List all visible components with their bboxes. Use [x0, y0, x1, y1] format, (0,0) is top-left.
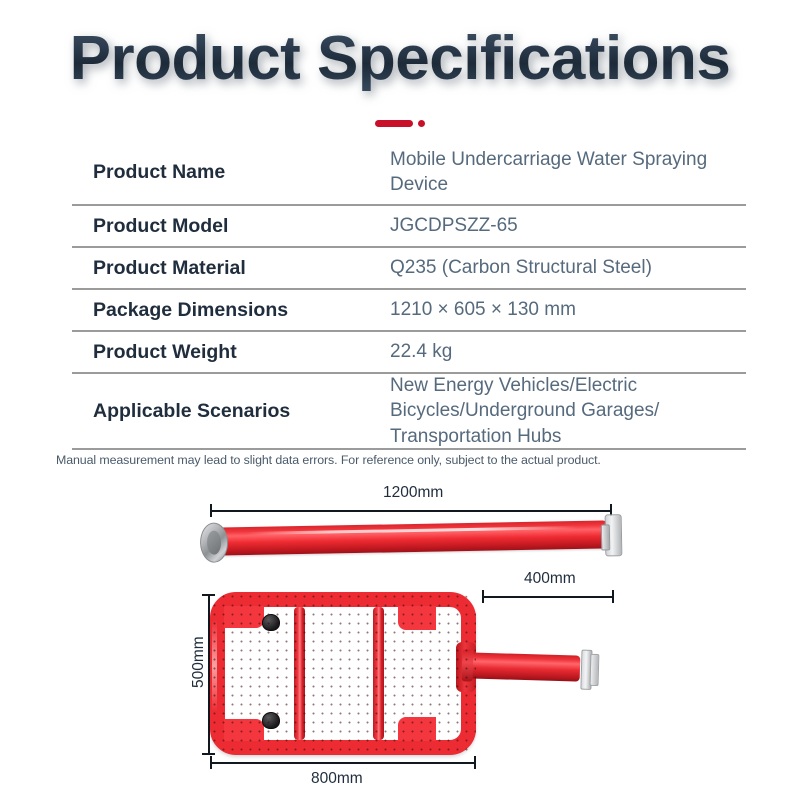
spec-value-product-weight: 22.4 kg	[390, 339, 746, 364]
spec-value-product-name: Mobile Undercarriage Water Spraying Devi…	[390, 147, 746, 198]
frame-divider-1	[294, 607, 305, 740]
dimension-line-tube-length	[210, 510, 612, 512]
spec-label-package-dimensions: Package Dimensions	[72, 298, 390, 322]
frame-divider-2	[373, 607, 384, 740]
specification-table: Product Name Mobile Undercarriage Water …	[72, 140, 746, 450]
arm-collar	[462, 649, 474, 681]
dimension-tick-width-right	[474, 756, 476, 769]
spray-frame-assembly	[210, 592, 476, 755]
product-specification-page: Product Specifications Product Name Mobi…	[0, 0, 800, 800]
connector-arm-pipe	[468, 652, 581, 681]
table-row: Applicable Scenarios New Energy Vehicles…	[72, 372, 746, 450]
dimension-tick-left	[210, 504, 212, 517]
spray-nozzle-lower-icon	[262, 712, 280, 729]
spec-label-product-name: Product Name	[72, 160, 390, 184]
dimension-label-frame-height: 500mm	[190, 636, 208, 688]
spec-value-product-model: JGCDPSZZ-65	[390, 213, 746, 238]
measurement-disclaimer: Manual measurement may lead to slight da…	[56, 453, 756, 467]
dimension-label-tube-length: 1200mm	[383, 484, 443, 502]
table-row: Product Name Mobile Undercarriage Water …	[72, 140, 746, 204]
accent-dash-icon	[375, 120, 413, 127]
tube-end-cap-inner	[207, 531, 221, 555]
corner-bracket-bottom-left	[224, 719, 264, 741]
spec-label-applicable-scenarios: Applicable Scenarios	[72, 399, 390, 423]
corner-bracket-top-left	[224, 606, 264, 628]
spec-value-product-material: Q235 (Carbon Structural Steel)	[390, 255, 746, 280]
dimension-tick-width-left	[210, 756, 212, 769]
page-title: Product Specifications	[70, 26, 731, 91]
dimension-line-arm-length	[482, 596, 614, 598]
spray-nozzle-upper-icon	[262, 614, 280, 631]
product-diagram: 1200mm 400mm 500mm	[0, 478, 800, 800]
tube-end-fitting	[601, 524, 610, 550]
page-title-container: Product Specifications	[0, 26, 800, 91]
tube-end-cap-left-icon	[200, 522, 229, 563]
spec-label-product-model: Product Model	[72, 214, 390, 238]
tube-highlight	[247, 526, 576, 535]
dimension-label-arm-length: 400mm	[524, 570, 576, 588]
spec-value-applicable-scenarios: New Energy Vehicles/Electric Bicycles/Un…	[390, 373, 746, 449]
dimension-tick-arm-left	[482, 590, 484, 603]
table-row: Product Model JGCDPSZZ-65	[72, 204, 746, 246]
spec-label-product-material: Product Material	[72, 256, 390, 280]
spec-label-product-weight: Product Weight	[72, 340, 390, 364]
spray-tube-product	[216, 520, 608, 555]
corner-bracket-bottom-right	[398, 717, 436, 741]
dimension-label-frame-width: 800mm	[311, 770, 363, 788]
dimension-tick-arm-right	[612, 590, 614, 603]
spec-value-package-dimensions: 1210 × 605 × 130 mm	[390, 297, 746, 322]
corner-bracket-top-right	[398, 606, 436, 630]
table-row: Product Weight 22.4 kg	[72, 330, 746, 372]
title-accent-divider	[0, 115, 800, 127]
table-row: Package Dimensions 1210 × 605 × 130 mm	[72, 288, 746, 330]
accent-dot-icon	[418, 120, 425, 127]
arm-clamp-plate	[589, 654, 599, 686]
table-row: Product Material Q235 (Carbon Structural…	[72, 246, 746, 288]
dimension-line-frame-width	[210, 762, 476, 764]
